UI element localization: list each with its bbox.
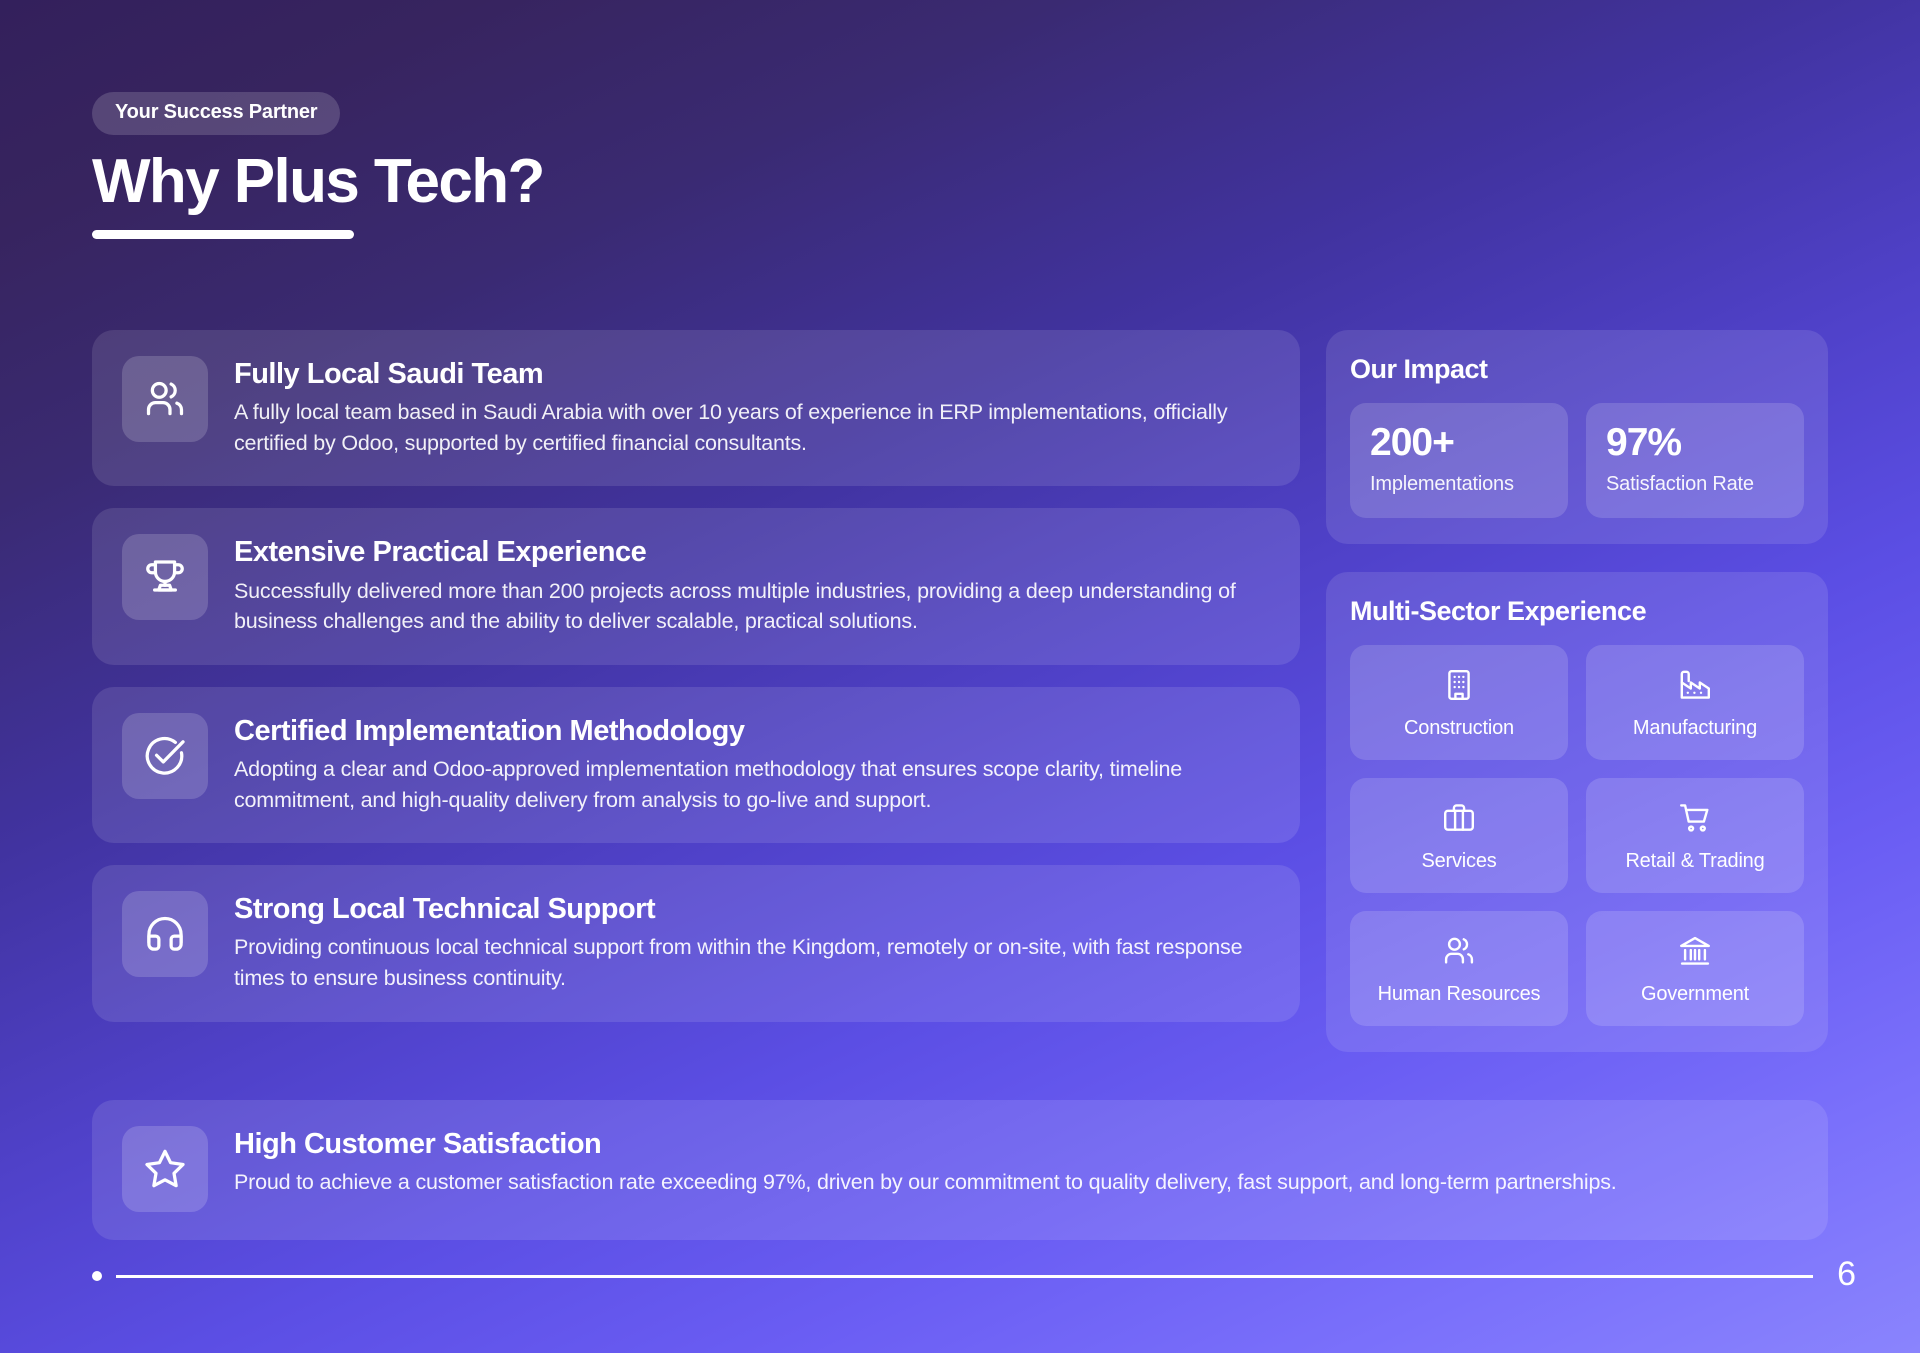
factory-icon (1677, 667, 1713, 703)
sector-label: Services (1421, 850, 1496, 873)
stat-satisfaction-rate: 97% Satisfaction Rate (1586, 403, 1804, 518)
stat-value: 200+ (1370, 423, 1548, 464)
feature-card-certified-implementation-methodology: Certified Implementation Methodology Ado… (92, 687, 1300, 843)
feature-body: Fully Local Saudi Team A fully local tea… (234, 356, 1270, 458)
sector-tile-construction: Construction (1350, 645, 1568, 760)
feature-description: Successfully delivered more than 200 pro… (234, 576, 1270, 637)
slide-header: Your Success Partner Why Plus Tech? (92, 92, 544, 239)
shopping-cart-icon (1677, 800, 1713, 836)
slide-content: Fully Local Saudi Team A fully local tea… (92, 330, 1828, 1052)
panel-title: Our Impact (1350, 354, 1804, 385)
sector-grid: Construction Manufacturing (1350, 645, 1804, 1026)
progress-dot (92, 1271, 102, 1281)
sector-tile-human-resources: Human Resources (1350, 911, 1568, 1026)
feature-body: High Customer Satisfaction Proud to achi… (234, 1126, 1798, 1198)
feature-body: Strong Local Technical Support Providing… (234, 891, 1270, 993)
impact-stats: 200+ Implementations 97% Satisfaction Ra… (1350, 403, 1804, 518)
eyebrow-badge: Your Success Partner (92, 92, 340, 135)
sector-label: Manufacturing (1633, 717, 1757, 740)
slide: Your Success Partner Why Plus Tech? Full… (0, 0, 1920, 1353)
bank-icon (1677, 933, 1713, 969)
feature-title: Strong Local Technical Support (234, 893, 1270, 926)
feature-title: High Customer Satisfaction (234, 1128, 1798, 1161)
sector-label: Human Resources (1378, 983, 1541, 1006)
feature-card-high-customer-satisfaction: High Customer Satisfaction Proud to achi… (92, 1100, 1828, 1240)
feature-card-extensive-practical-experience: Extensive Practical Experience Successfu… (92, 508, 1300, 664)
sector-tile-manufacturing: Manufacturing (1586, 645, 1804, 760)
panel-title: Multi-Sector Experience (1350, 596, 1804, 627)
sector-label: Retail & Trading (1625, 850, 1764, 873)
headphones-icon (122, 891, 208, 977)
our-impact-panel: Our Impact 200+ Implementations 97% Sati… (1326, 330, 1828, 544)
briefcase-icon (1441, 800, 1477, 836)
star-icon (122, 1126, 208, 1212)
feature-title: Extensive Practical Experience (234, 536, 1270, 569)
sector-label: Construction (1404, 717, 1514, 740)
multi-sector-experience-panel: Multi-Sector Experience Construction (1326, 572, 1828, 1052)
feature-body: Certified Implementation Methodology Ado… (234, 713, 1270, 815)
feature-card-fully-local-saudi-team: Fully Local Saudi Team A fully local tea… (92, 330, 1300, 486)
users-icon (1441, 933, 1477, 969)
sector-tile-retail-trading: Retail & Trading (1586, 778, 1804, 893)
title-underline (92, 230, 354, 239)
sector-tile-government: Government (1586, 911, 1804, 1026)
progress-line (116, 1275, 1813, 1278)
feature-title: Certified Implementation Methodology (234, 715, 1270, 748)
feature-card-strong-local-technical-support: Strong Local Technical Support Providing… (92, 865, 1300, 1021)
features-column: Fully Local Saudi Team A fully local tea… (92, 330, 1300, 1022)
sector-label: Government (1641, 983, 1749, 1006)
sector-tile-services: Services (1350, 778, 1568, 893)
page-number: 6 (1837, 1257, 1856, 1291)
slide-footer: 6 (92, 1261, 1856, 1291)
users-icon (122, 356, 208, 442)
stat-label: Implementations (1370, 473, 1548, 496)
check-circle-icon (122, 713, 208, 799)
trophy-icon (122, 534, 208, 620)
stat-value: 97% (1606, 423, 1784, 464)
feature-description: Adopting a clear and Odoo-approved imple… (234, 754, 1270, 815)
building-icon (1441, 667, 1477, 703)
feature-description: Providing continuous local technical sup… (234, 932, 1270, 993)
stat-implementations: 200+ Implementations (1350, 403, 1568, 518)
feature-title: Fully Local Saudi Team (234, 358, 1270, 391)
page-title: Why Plus Tech? (92, 149, 544, 214)
feature-description: Proud to achieve a customer satisfaction… (234, 1167, 1798, 1198)
sidebar-column: Our Impact 200+ Implementations 97% Sati… (1326, 330, 1828, 1052)
feature-description: A fully local team based in Saudi Arabia… (234, 397, 1270, 458)
stat-label: Satisfaction Rate (1606, 473, 1784, 496)
feature-body: Extensive Practical Experience Successfu… (234, 534, 1270, 636)
